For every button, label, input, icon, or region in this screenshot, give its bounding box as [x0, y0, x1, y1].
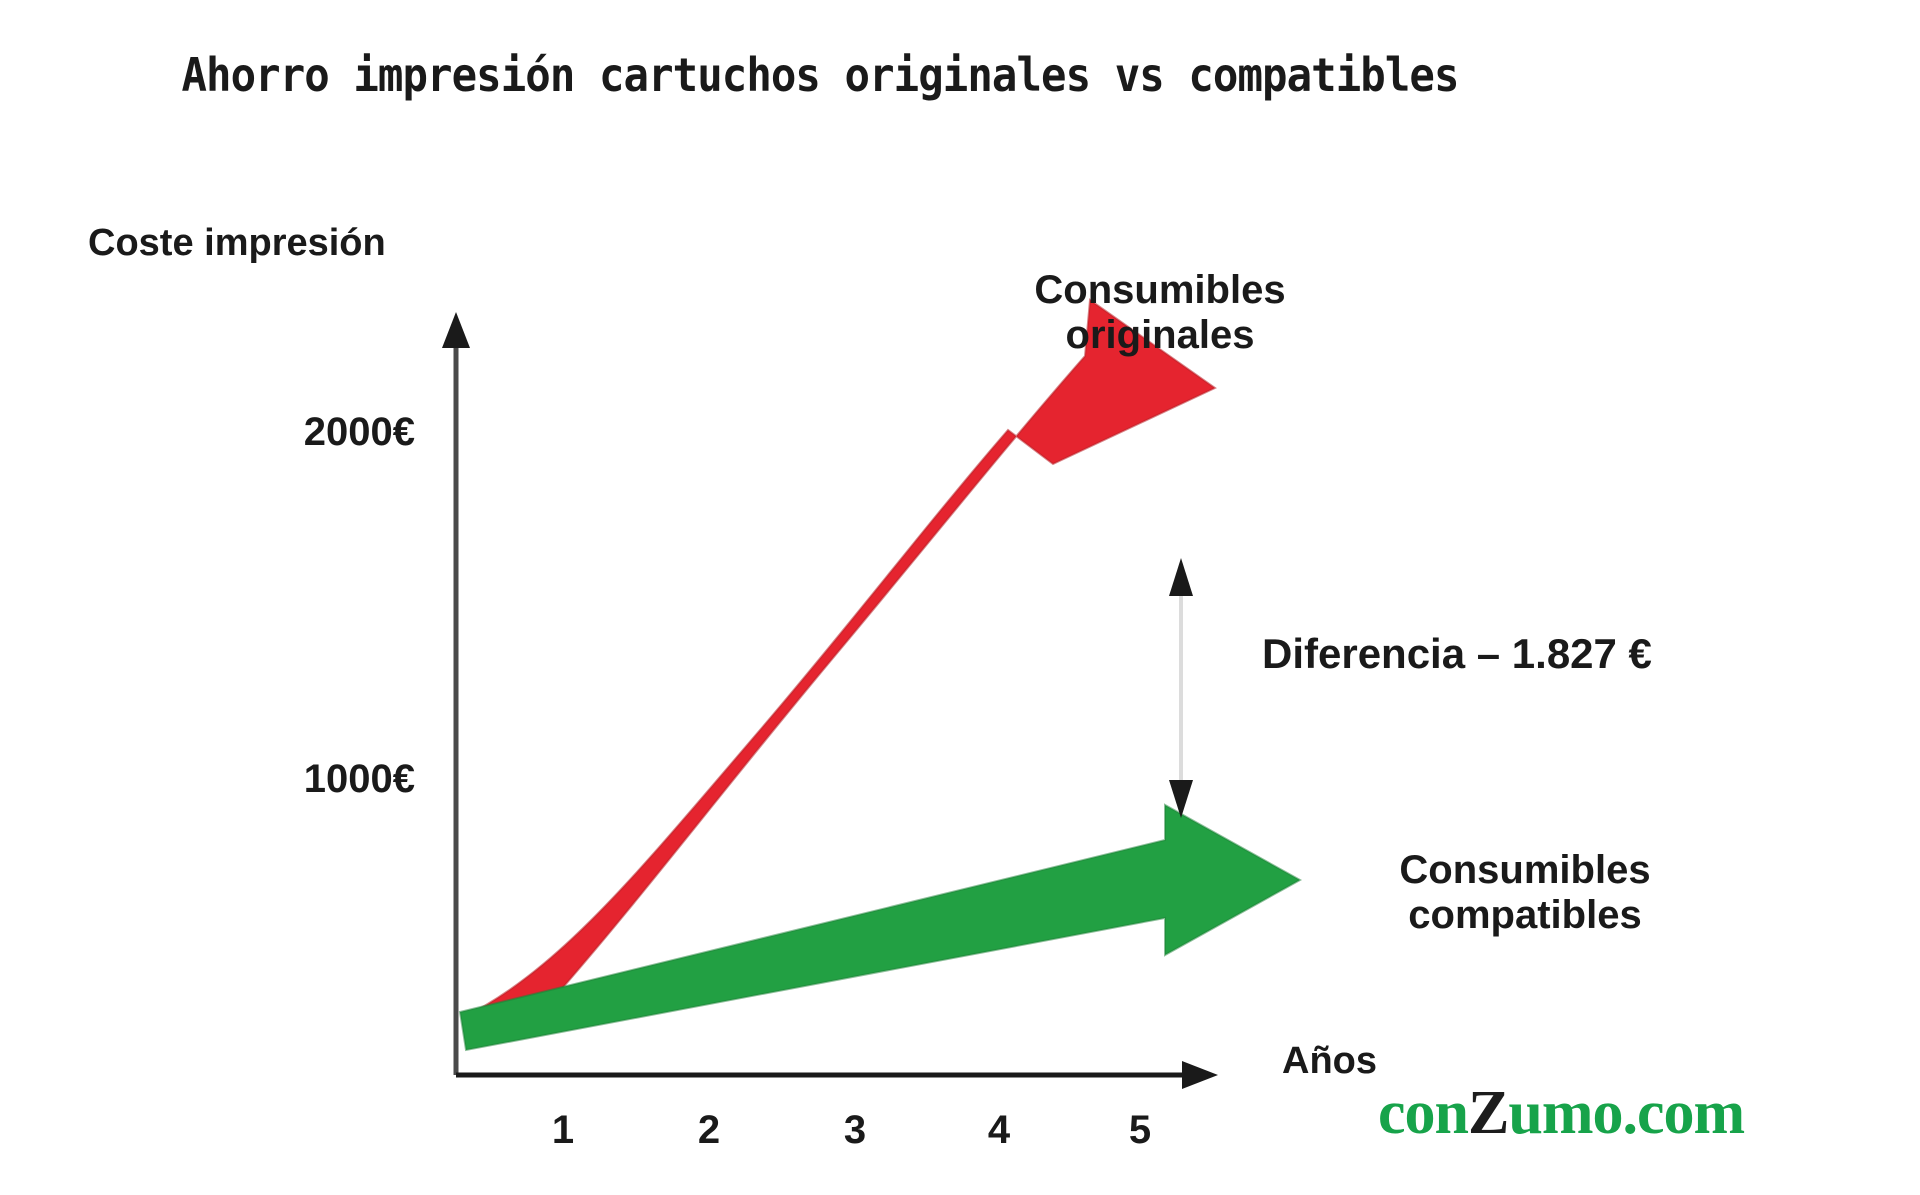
annotation-compatibles-line1: Consumibles	[1355, 848, 1695, 893]
watermark-accent-letter: Z	[1468, 1079, 1508, 1147]
x-tick-label-2: 2	[679, 1108, 739, 1153]
annotation-originales-line1: Consumibles	[995, 268, 1325, 313]
difference-arrow	[1169, 558, 1193, 818]
annotation-diferencia: Diferencia – 1.827 €	[1262, 630, 1652, 677]
x-axis-title: Años	[1282, 1040, 1377, 1083]
x-axis	[456, 1061, 1218, 1089]
watermark-suffix: umo.com	[1508, 1079, 1744, 1147]
chart-canvas	[0, 0, 1920, 1195]
y-axis-title: Coste impresión	[88, 222, 386, 265]
annotation-originales-line2: originales	[995, 313, 1325, 358]
x-tick-label-1: 1	[533, 1108, 593, 1153]
x-tick-label-5: 5	[1110, 1108, 1170, 1153]
watermark-conzumo: conZumo.com	[1378, 1078, 1744, 1149]
x-tick-label-4: 4	[969, 1108, 1029, 1153]
y-tick-label-1000: 1000€	[195, 757, 415, 802]
annotation-compatibles-line2: compatibles	[1355, 893, 1695, 938]
annotation-consumibles-originales: Consumibles originales	[995, 268, 1325, 358]
x-tick-label-3: 3	[825, 1108, 885, 1153]
y-axis	[442, 312, 470, 1075]
annotation-consumibles-compatibles: Consumibles compatibles	[1355, 848, 1695, 938]
page-title: Ahorro impresión cartuchos originales vs…	[66, 48, 1575, 102]
y-tick-label-2000: 2000€	[195, 410, 415, 455]
watermark-prefix: con	[1378, 1079, 1468, 1147]
